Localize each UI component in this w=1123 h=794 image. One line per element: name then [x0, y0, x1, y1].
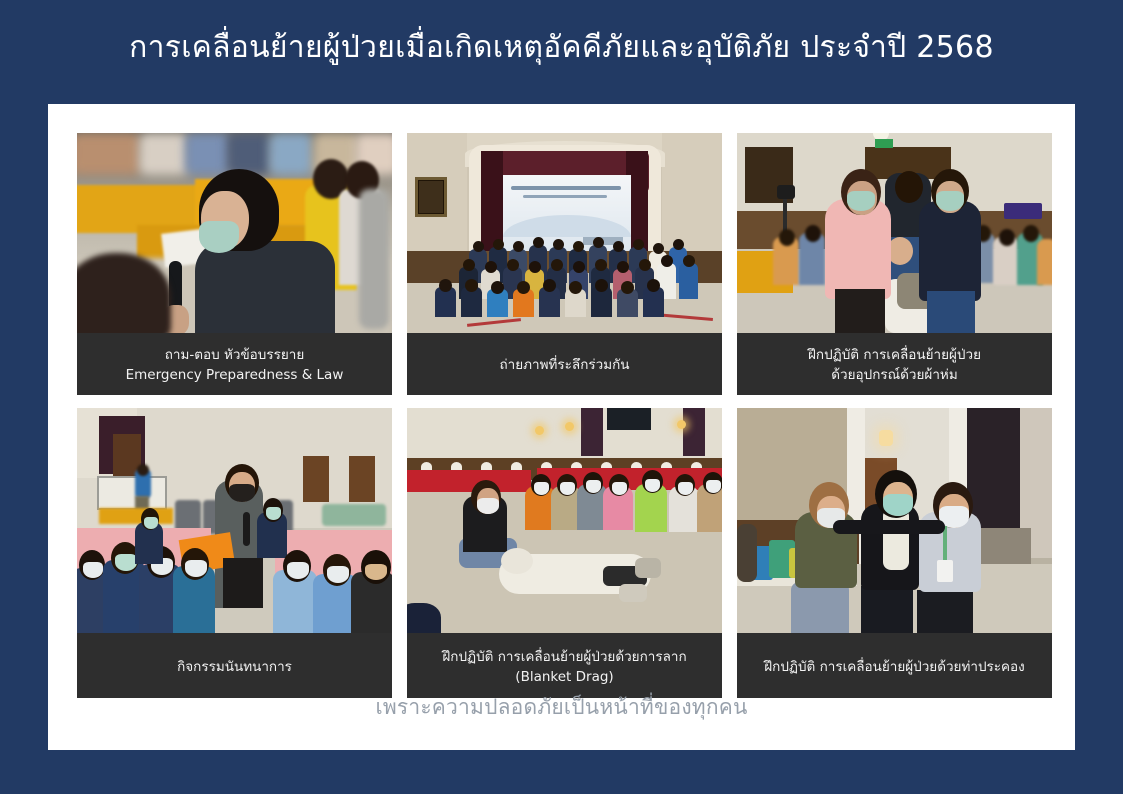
- caption-support-carry: ฝึกปฏิบัติ การเคลื่อนย้ายผู้ป่วยด้วยท่าป…: [737, 633, 1052, 698]
- caption-group-photo: ถ่ายภาพที่ระลึกร่วมกัน: [407, 333, 722, 395]
- caption-line-2: Emergency Preparedness & Law: [126, 366, 344, 386]
- photo-blanket-drag: [407, 408, 722, 633]
- photo-recreation: [77, 408, 392, 633]
- content-panel: ถาม-ตอบ หัวข้อบรรยาย Emergency Preparedn…: [48, 104, 1075, 750]
- card-blanket-drag[interactable]: ฝึกปฏิบัติ การเคลื่อนย้ายผู้ป่วยด้วยการล…: [407, 408, 722, 698]
- caption-line-1: ฝึกปฏิบัติ การเคลื่อนย้ายผู้ป่วยด้วยการล…: [442, 648, 686, 668]
- photo-grid: ถาม-ตอบ หัวข้อบรรยาย Emergency Preparedn…: [77, 133, 1052, 698]
- card-qa-lecture[interactable]: ถาม-ตอบ หัวข้อบรรยาย Emergency Preparedn…: [77, 133, 392, 395]
- poster-root: การเคลื่อนย้ายผู้ป่วยเมื่อเกิดเหตุอัคคีภ…: [0, 0, 1123, 794]
- photo-group-photo: [407, 133, 722, 333]
- caption-line-1: ถาม-ตอบ หัวข้อบรรยาย: [165, 346, 305, 366]
- caption-blanket-equipment: ฝึกปฏิบัติ การเคลื่อนย้ายผู้ป่วย ด้วยอุป…: [737, 333, 1052, 395]
- card-recreation[interactable]: กิจกรรมนันทนาการ: [77, 408, 392, 698]
- footer-note: เพราะความปลอดภัยเป็นหน้าที่ของทุกคน: [48, 691, 1075, 724]
- photo-support-carry: [737, 408, 1052, 633]
- photo-qa-lecture: [77, 133, 392, 333]
- photo-blanket-equipment: [737, 133, 1052, 333]
- page-title: การเคลื่อนย้ายผู้ป่วยเมื่อเกิดเหตุอัคคีภ…: [129, 0, 994, 63]
- card-group-photo[interactable]: ถ่ายภาพที่ระลึกร่วมกัน: [407, 133, 722, 395]
- caption-line-1: กิจกรรมนันทนาการ: [177, 658, 292, 678]
- caption-line-2: ด้วยอุปกรณ์ด้วยผ้าห่ม: [831, 366, 957, 386]
- caption-line-1: ถ่ายภาพที่ระลึกร่วมกัน: [499, 356, 629, 376]
- caption-recreation: กิจกรรมนันทนาการ: [77, 633, 392, 698]
- caption-qa-lecture: ถาม-ตอบ หัวข้อบรรยาย Emergency Preparedn…: [77, 333, 392, 395]
- caption-line-1: ฝึกปฏิบัติ การเคลื่อนย้ายผู้ป่วย: [808, 346, 981, 366]
- caption-line-2: (Blanket Drag): [515, 668, 613, 688]
- caption-line-1: ฝึกปฏิบัติ การเคลื่อนย้ายผู้ป่วยด้วยท่าป…: [764, 658, 1025, 678]
- card-blanket-equipment[interactable]: ฝึกปฏิบัติ การเคลื่อนย้ายผู้ป่วย ด้วยอุป…: [737, 133, 1052, 395]
- card-support-carry[interactable]: ฝึกปฏิบัติ การเคลื่อนย้ายผู้ป่วยด้วยท่าป…: [737, 408, 1052, 698]
- caption-blanket-drag: ฝึกปฏิบัติ การเคลื่อนย้ายผู้ป่วยด้วยการล…: [407, 633, 722, 698]
